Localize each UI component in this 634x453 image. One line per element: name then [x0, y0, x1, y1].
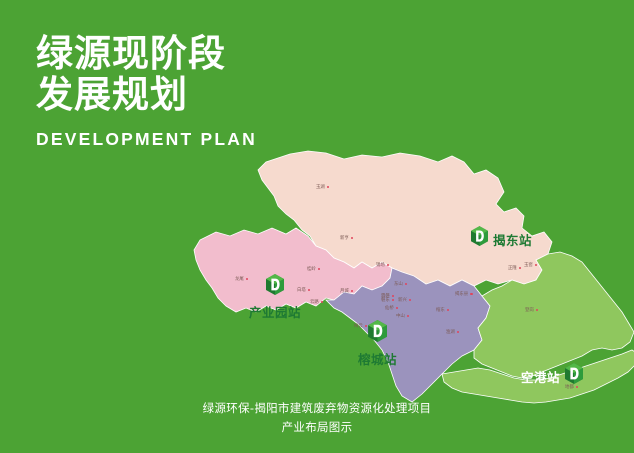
city-dot-icon [519, 267, 522, 270]
city-dot-icon [457, 331, 460, 334]
city-dot-13: 新兴 [398, 297, 411, 303]
city-dot-icon [351, 237, 354, 240]
city-dot-7: 锡场 [376, 262, 389, 268]
city-dot-10: 磐东 [381, 297, 394, 303]
leaf-hexagon-logo-icon [266, 274, 284, 301]
station-marker-rongcheng[interactable]: 榕城站 [358, 320, 397, 368]
station-marker-jiedong[interactable]: 揭东站 [471, 226, 532, 252]
city-label: 玉窖 [524, 262, 533, 268]
city-dot-14: 中山 [396, 313, 409, 319]
title-block: 绿源现阶段 发展规划 DEVELOPMENT PLAN [36, 33, 257, 150]
city-label: 仙桥 [385, 305, 394, 311]
city-dot-15: 榕东 [436, 307, 449, 313]
city-dot-icon [396, 307, 399, 310]
station-label-chanyeyuan: 产业园站 [249, 302, 301, 321]
city-dot-icon [409, 299, 412, 302]
city-dot-19: 渔湖 [446, 329, 459, 335]
page-title-line-2: 发展规划 [36, 74, 257, 115]
page-title-line-1: 绿源现阶段 [36, 33, 257, 74]
city-dot-icon [405, 283, 408, 286]
city-dot-icon [535, 264, 538, 267]
city-dot-icon [318, 268, 321, 271]
city-label: 锡场 [376, 262, 385, 268]
city-label: 磐东 [381, 297, 390, 303]
station-label-jiedong: 揭东站 [493, 230, 532, 249]
city-dot-1: 新亨 [340, 235, 353, 241]
city-label: 月城 [340, 288, 349, 294]
station-marker-konggang[interactable]: 空港站 [521, 363, 583, 390]
leaf-hexagon-logo-icon [471, 226, 488, 252]
city-dot-16: 揭东县 [455, 291, 473, 297]
city-label: 新兴 [398, 297, 407, 303]
city-dot-icon [536, 309, 539, 312]
city-dot-icon [351, 290, 354, 293]
city-label: 渔湖 [446, 329, 455, 335]
caption-block: 绿源环保-揭阳市建筑废弃物资源化处理项目 产业布局图示 [0, 399, 634, 437]
caption-line-2: 产业布局图示 [0, 418, 634, 437]
leaf-hexagon-logo-icon [565, 363, 583, 390]
city-label: 中山 [396, 313, 405, 319]
city-dot-6: 月城 [340, 288, 353, 294]
city-dot-icon [387, 264, 390, 267]
city-label: 东山 [394, 281, 403, 287]
city-dot-icon [246, 278, 249, 281]
caption-line-1: 绿源环保-揭阳市建筑废弃物资源化处理项目 [0, 399, 634, 418]
poster-canvas: 绿源现阶段 发展规划 DEVELOPMENT PLAN [0, 0, 634, 453]
city-dot-18: 玉窖 [524, 262, 537, 268]
city-dot-icon [447, 309, 450, 312]
city-dot-icon [470, 293, 473, 296]
city-dot-17: 正隆 [508, 265, 521, 271]
station-label-rongcheng: 榕城站 [358, 349, 397, 368]
city-dot-0: 玉湖 [316, 184, 329, 190]
city-dot-4: 龙尾 [235, 276, 248, 282]
city-dot-20: 登岗 [525, 307, 538, 313]
city-label: 云路 [310, 299, 319, 305]
city-dot-12: 东山 [394, 281, 407, 287]
page-subtitle: DEVELOPMENT PLAN [36, 129, 257, 150]
city-dot-icon [321, 301, 324, 304]
leaf-hexagon-logo-icon [368, 320, 387, 348]
city-dot-icon [327, 186, 330, 189]
city-label: 揭东县 [455, 291, 468, 297]
city-label: 龙尾 [235, 276, 244, 282]
city-label: 玉湖 [316, 184, 325, 190]
city-dot-5: 云路 [310, 299, 323, 305]
city-label: 新亨 [340, 235, 349, 241]
city-dot-icon [308, 289, 311, 292]
station-label-konggang: 空港站 [521, 367, 560, 386]
city-dot-11: 仙桥 [385, 305, 398, 311]
city-dot-2: 桂岭 [307, 266, 320, 272]
city-label: 登岗 [525, 307, 534, 313]
city-dot-icon [392, 299, 395, 302]
city-label: 正隆 [508, 265, 517, 271]
station-marker-chanyeyuan[interactable]: 产业园站 [249, 274, 301, 321]
city-dot-icon [407, 315, 410, 318]
city-label: 桂岭 [307, 266, 316, 272]
city-label: 榕东 [436, 307, 445, 313]
